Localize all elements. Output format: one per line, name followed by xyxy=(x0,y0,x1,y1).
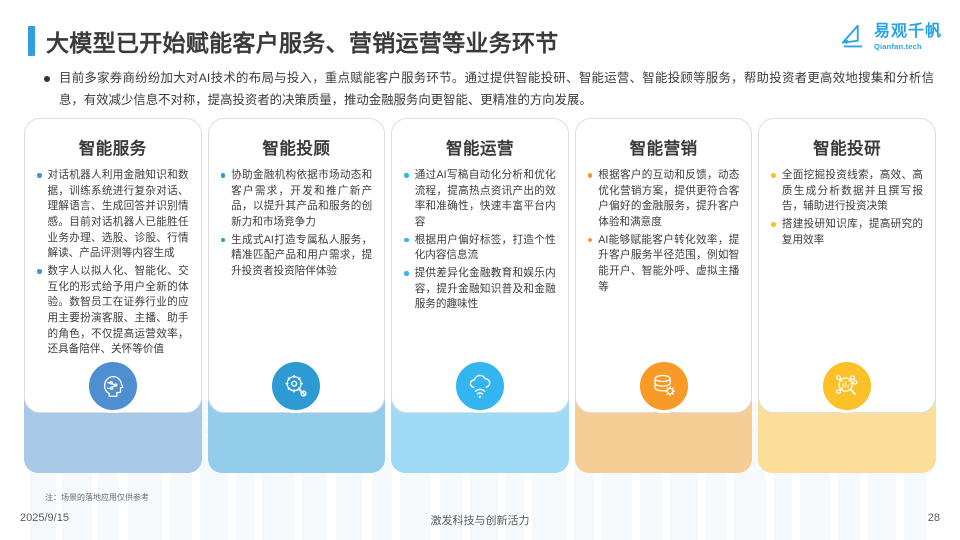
scenario-card[interactable]: 智能营销根据客户的互动和反馈，动态优化营销方案，提供更符合客户偏好的金融服务，提… xyxy=(575,118,753,473)
bullet-dot-icon xyxy=(37,173,42,178)
card-bullet-item: 生成式AI打造专属私人服务，精准匹配产品和用户需求，提升投资者投资陪伴体验 xyxy=(221,233,373,280)
footer-tagline: 激发科技与创新活力 xyxy=(0,512,960,528)
card-bullet-item: 根据客户的互动和反馈，动态优化营销方案，提供更符合客户偏好的金融服务，提升客户体… xyxy=(588,168,740,231)
footnote: 注：场景的落地应用仅供参考 xyxy=(45,492,149,503)
card-bullet-item: 根据用户偏好标签，打造个性化内容信息流 xyxy=(404,233,556,264)
chart-magnifier-icon xyxy=(820,359,874,413)
bullet-dot-icon xyxy=(404,173,409,178)
card-bullet-text: 通过AI写稿自动化分析和优化流程，提高热点资讯产出的效率和准确性，快速丰富平台内… xyxy=(415,168,556,231)
card-bullet-text: 提供差异化金融教育和娱乐内容，提升金融知识普及和金融服务的趣味性 xyxy=(415,266,556,313)
bullet-dot-icon xyxy=(44,76,50,82)
logo-english-text: Qianfan.tech xyxy=(874,43,942,51)
card-title: 智能营销 xyxy=(588,135,740,159)
card-bullet-text: 根据客户的互动和反馈，动态优化营销方案，提供更符合客户偏好的金融服务，提升客户体… xyxy=(598,168,739,231)
cloud-wifi-icon xyxy=(453,359,507,413)
scenario-card[interactable]: 智能运营通过AI写稿自动化分析和优化流程，提高热点资讯产出的效率和准确性，快速丰… xyxy=(391,118,569,473)
bullet-dot-icon xyxy=(588,238,593,243)
database-gear-icon xyxy=(637,359,691,413)
card-bullet-item: 提供差异化金融教育和娱乐内容，提升金融知识普及和金融服务的趣味性 xyxy=(404,266,556,313)
bullet-dot-icon xyxy=(404,238,409,243)
intro-bullet: 目前多家券商纷纷加大对AI技术的布局与投入，重点赋能客户服务环节。通过提供智能投… xyxy=(44,68,934,111)
scenario-card[interactable]: 智能投研全面挖掘投资线索，高效、高质生成分析数据并且撰写报告，辅助进行投资决策搭… xyxy=(758,118,936,473)
card-title: 智能投研 xyxy=(771,135,923,159)
bullet-dot-icon xyxy=(37,269,42,274)
bullet-dot-icon xyxy=(771,173,776,178)
footer-page-number: 28 xyxy=(928,512,940,524)
card-bullet-item: 全面挖掘投资线索，高效、高质生成分析数据并且撰写报告，辅助进行投资决策 xyxy=(771,168,923,215)
card-bullet-text: 全面挖掘投资线索，高效、高质生成分析数据并且撰写报告，辅助进行投资决策 xyxy=(782,168,923,215)
logo-chinese-text: 易观千帆 xyxy=(874,24,942,40)
card-bullet-item: 数字人以拟人化、智能化、交互化的形式给予用户全新的体验。数智员工在证券行业的应用… xyxy=(37,264,189,358)
card-bullet-text: 对话机器人利用金融知识和数据，训练系统进行复杂对话、理解语言、生成回答并识别情感… xyxy=(48,168,189,262)
card-bullet-text: 生成式AI打造专属私人服务，精准匹配产品和用户需求，提升投资者投资陪伴体验 xyxy=(231,233,372,280)
bullet-dot-icon xyxy=(221,238,226,243)
bullet-dot-icon xyxy=(771,222,776,227)
ai-head-icon xyxy=(86,359,140,413)
bullet-dot-icon xyxy=(588,173,593,178)
card-bullet-item: 通过AI写稿自动化分析和优化流程，提高热点资讯产出的效率和准确性，快速丰富平台内… xyxy=(404,168,556,231)
card-bullet-item: AI能够赋能客户转化效率，提升客户服务半径范围，例如智能开户、智能外呼、虚拟主播… xyxy=(588,233,740,296)
page-title: 大模型已开始赋能客户服务、营销运营等业务环节 xyxy=(28,24,559,58)
bullet-dot-icon xyxy=(404,271,409,276)
card-bullet-item: 协助金融机构依据市场动态和客户需求，开发和推广新产品，以提升其产品和服务的创新力… xyxy=(221,168,373,231)
card-bullet-list: 通过AI写稿自动化分析和优化流程，提高热点资讯产出的效率和准确性，快速丰富平台内… xyxy=(404,168,556,313)
sail-logo-icon xyxy=(839,22,869,52)
card-bullet-text: 数字人以拟人化、智能化、交互化的形式给予用户全新的体验。数智员工在证券行业的应用… xyxy=(48,264,189,358)
card-bullet-item: 搭建投研知识库，提高研究的复用效率 xyxy=(771,217,923,248)
card-bullet-text: 协助金融机构依据市场动态和客户需求，开发和推广新产品，以提升其产品和服务的创新力… xyxy=(231,168,372,231)
card-bullet-list: 对话机器人利用金融知识和数据，训练系统进行复杂对话、理解语言、生成回答并识别情感… xyxy=(37,168,189,358)
scenario-card[interactable]: 智能投顾协助金融机构依据市场动态和客户需求，开发和推广新产品，以提升其产品和服务… xyxy=(208,118,386,473)
card-bullet-list: 根据客户的互动和反馈，动态优化营销方案，提供更符合客户偏好的金融服务，提升客户体… xyxy=(588,168,740,295)
card-bullet-text: 根据用户偏好标签，打造个性化内容信息流 xyxy=(415,233,556,264)
intro-text: 目前多家券商纷纷加大对AI技术的布局与投入，重点赋能客户服务环节。通过提供智能投… xyxy=(59,68,934,111)
gear-search-icon xyxy=(269,359,323,413)
title-text: 大模型已开始赋能客户服务、营销运营等业务环节 xyxy=(46,24,559,58)
card-bullet-list: 协助金融机构依据市场动态和客户需求，开发和推广新产品，以提升其产品和服务的创新力… xyxy=(221,168,373,280)
card-title: 智能运营 xyxy=(404,135,556,159)
scenario-card[interactable]: 智能服务对话机器人利用金融知识和数据，训练系统进行复杂对话、理解语言、生成回答并… xyxy=(24,118,202,473)
card-bullet-text: AI能够赋能客户转化效率，提升客户服务半径范围，例如智能开户、智能外呼、虚拟主播… xyxy=(598,233,739,296)
slide: 大模型已开始赋能客户服务、营销运营等业务环节 易观千帆 Qianfan.tech… xyxy=(0,0,960,540)
card-title: 智能投顾 xyxy=(221,135,373,159)
card-bullet-text: 搭建投研知识库，提高研究的复用效率 xyxy=(782,217,923,248)
bullet-dot-icon xyxy=(221,173,226,178)
title-accent-bar xyxy=(28,26,35,56)
card-title: 智能服务 xyxy=(37,135,189,159)
card-row: 智能服务对话机器人利用金融知识和数据，训练系统进行复杂对话、理解语言、生成回答并… xyxy=(24,118,936,473)
card-bullet-list: 全面挖掘投资线索，高效、高质生成分析数据并且撰写报告，辅助进行投资决策搭建投研知… xyxy=(771,168,923,248)
card-bullet-item: 对话机器人利用金融知识和数据，训练系统进行复杂对话、理解语言、生成回答并识别情感… xyxy=(37,168,189,262)
brand-logo: 易观千帆 Qianfan.tech xyxy=(839,22,942,52)
